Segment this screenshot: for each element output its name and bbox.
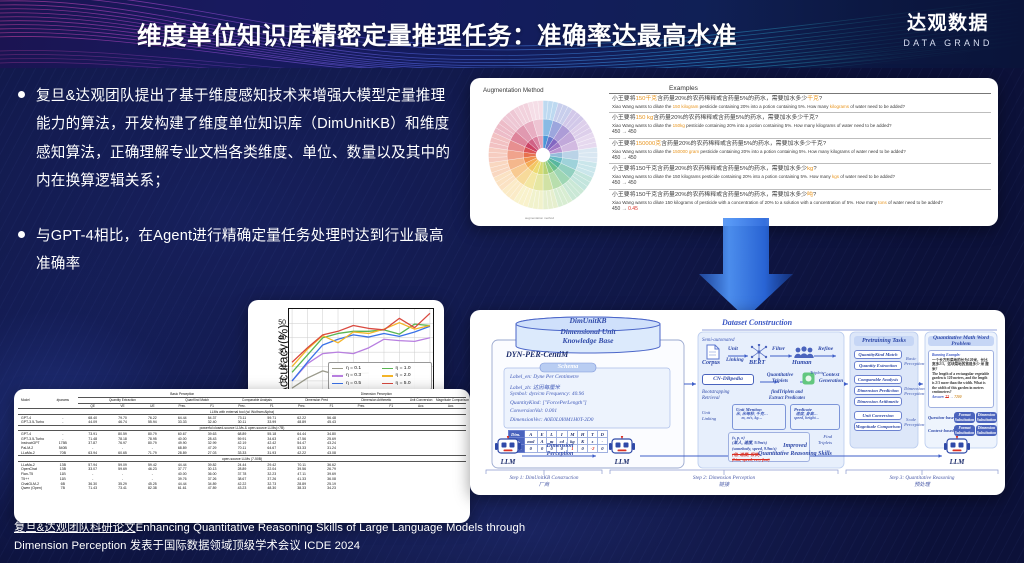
sunburst-caption: augmentation method <box>525 216 554 220</box>
brand-logo: 达观数据 DATA GRAND <box>890 13 1006 48</box>
bullet-item: 复旦&达观团队提出了基于维度感知技术来增强大模型定量推理能力的算法，开发构建了维… <box>18 82 458 196</box>
table-cell: 7B <box>48 486 78 491</box>
chart-legend-item: η = 0.1 <box>332 365 379 372</box>
corpus-label: Corpus <box>702 360 720 366</box>
schema-field: Label_zh: 达因每厘米 <box>510 383 560 391</box>
chart-y-tick: 50 <box>278 320 286 327</box>
triple-neg-en: (him, speed, very fast) <box>732 457 770 463</box>
table-cell: 71.43 <box>78 486 108 491</box>
predicate-items: 速度, 身高…speed, height… <box>794 412 820 421</box>
unit-mention-items: 米, 米每秒, 千克…m, m/s, kg… <box>736 412 768 421</box>
table-row: Qwen (Open)7B71.4373.4182.3861.6147.8943… <box>18 486 466 491</box>
table-cell: 38.33 <box>287 486 317 491</box>
chart-legend-label: η = 1.0 <box>396 365 411 372</box>
pretraining-task-box: Quantity Extraction <box>854 361 902 370</box>
unit-linking-side-label: UnitLinking <box>702 410 716 421</box>
step-label: Step 3: Quantitative Reasoning预处理 <box>846 475 998 489</box>
running-example-box: Running Example: 一个长方形菜地的长为120米，长比宽多2/3，… <box>928 350 994 408</box>
footer-line-1: 复旦&达观团队科研论文Enhancing Quantitative Reason… <box>14 520 654 538</box>
down-arrow-icon <box>693 218 799 322</box>
example-answer: 450 → 450 <box>612 155 988 162</box>
results-table-card: Basic PerceptionDimension PerceptionMode… <box>14 389 470 523</box>
schema-field: DimensionVec: A0E0L0I0M1H0T-2D0 <box>510 417 594 423</box>
bootstrapping-retrieval-label: BootstrappingRetrieval <box>702 390 729 402</box>
chart-legend-item: η = 5.0 <box>382 380 429 387</box>
dim-table-cell: L <box>547 431 557 438</box>
dim-table-cell: M <box>567 431 578 438</box>
people-icon <box>794 346 814 359</box>
pretraining-task-box: Unit Conversion <box>854 411 902 420</box>
example-en: Xiao Wang wants to dilute the 150 kilogr… <box>612 104 988 110</box>
logo-text-en: DATA GRAND <box>890 38 1006 48</box>
qmwp-row-label: Question-based <box>928 415 956 420</box>
dim-table-cell: A <box>524 431 537 438</box>
pretraining-task-box: QuantityKind Match <box>854 350 902 359</box>
example-row: 小王要将150千克含药量20%的农药稀释或含药量5%的药水，需要加水多少kg?X… <box>609 164 991 190</box>
dim-table-cell: T <box>588 431 598 438</box>
dimension-perception-arrow-label: DimensionPerception <box>528 443 592 458</box>
llm-label: LLM <box>609 458 635 466</box>
table-cell: 34.23 <box>317 486 347 491</box>
pretraining-task-box: Comparable Analysis <box>854 375 902 384</box>
table-cell: 47.89 <box>197 486 227 491</box>
dim-table-cell: I <box>556 431 567 438</box>
footer-line-2: Dimension Perception 发表于国际数据领域顶级学术会议 ICD… <box>14 538 654 556</box>
bullet-item: 与GPT-4相比，在Agent进行精确定量任务处理时达到行业最高准确率 <box>18 222 458 279</box>
example-zh: 小王要将150 kg含药量20%的农药稀释或含药量5%的药水，需要加水多少千克? <box>612 115 988 123</box>
refine-label: Refine <box>818 346 833 352</box>
chart-legend-item: η = 0.5 <box>332 380 379 387</box>
chart-legend-label: η = 2.0 <box>396 372 411 379</box>
table-cell <box>376 486 406 491</box>
bert-network-icon <box>750 344 768 360</box>
bullet-list: 复旦&达观团队提出了基于维度感知技术来增强大模型定量推理能力的算法，开发构建了维… <box>18 82 458 305</box>
llm-label: LLM <box>944 458 970 466</box>
chart-legend-item: η = 1.0 <box>382 365 429 372</box>
unit-mention-box: Unit Mention米, 米每秒, 千克…m, m/s, kg… <box>732 404 786 430</box>
bullet-dot-icon <box>18 91 25 98</box>
chart-y-tick: 40 <box>278 334 286 341</box>
dim-table-cell: E <box>537 431 546 438</box>
cn-dbpedia-box: CN-DBpedia <box>702 374 754 385</box>
schema-field: QuantityKind: ["ForcePerLength"] <box>510 400 587 406</box>
chart-legend-label: η = 5.0 <box>396 380 411 387</box>
step-label: Step 2: Dimension Perception链接 <box>610 475 838 489</box>
chart-legend-item: η = 0.3 <box>332 372 379 379</box>
chart-y-tick: 20 <box>278 363 286 370</box>
chart-y-tick: 10 <box>278 377 286 384</box>
example-zh: 小王要将150千克含药量20%的农药稀释或含药量5%的药水，需要加水多少吨? <box>612 192 988 200</box>
qmwp-cell: DimensionSubstitution <box>976 425 997 436</box>
example-zh: 小王要将150000克含药量20%的农药稀释或含药量5%的药水，需要加水多少千克… <box>612 141 988 149</box>
pretraining-group-label: BasicPerception <box>904 356 918 366</box>
pretraining-tasks-title: Pretraining Tasks <box>854 336 914 346</box>
table-cell: 73.41 <box>108 486 138 491</box>
pretraining-group-label: ScalePerception <box>904 417 918 427</box>
sunburst-chart: Augmentation Method augmentation method <box>477 83 605 221</box>
quantitative-triplets-label: QuantitativeTriplets <box>760 372 800 384</box>
filter-label: Filter <box>772 346 785 352</box>
example-en: Xiao Wang wants to dilute 150 kilograms … <box>612 200 988 206</box>
chart-plot-area: 1020304050 10002000300040005000600070008… <box>288 308 434 392</box>
table-cell <box>346 486 376 491</box>
running-example-en: The length of a rectangular vegetable ga… <box>932 372 990 395</box>
qmwp-row-label: Context-based <box>928 428 954 433</box>
table-cell <box>436 486 466 491</box>
bullet-text: 与GPT-4相比，在Agent进行精确定量任务处理时达到行业最高准确率 <box>36 222 458 279</box>
slide-header: 维度单位知识库精密定量推理任务：准确率达最高水准 达观数据 DATA GRAND <box>0 0 1024 68</box>
footer-zh-suffix: 发表于国际数据领域顶级学术会议 ICDE 2024 <box>130 540 360 552</box>
example-answer: 450 → 0.45 <box>612 206 988 213</box>
table-cell: 43.23 <box>227 486 257 491</box>
examples-table: Examples 小王要将150千克含药量20%的农药稀释或含药量5%的药水，需… <box>605 83 991 221</box>
table-cell: 82.38 <box>137 486 167 491</box>
table-cell: 48.30 <box>257 486 287 491</box>
chart-legend-label: η = 0.1 <box>346 365 361 372</box>
page-title: 维度单位知识库精密定量推理任务：准确率达最高水准 <box>0 0 1024 68</box>
document-icon <box>706 344 720 360</box>
llm-label: LLM <box>495 458 521 466</box>
example-zh: 小王要将150千克含药量20%的农药稀释或含药量5%的药水，需要加水多少kg? <box>612 166 988 174</box>
schema-field: ConversionVal: 0.001 <box>510 408 557 414</box>
example-row: 小王要将150千克含药量20%的农药稀释或含药量5%的药水，需要加水多少吨?Xi… <box>609 190 991 215</box>
bullet-dot-icon <box>18 231 25 238</box>
schema-field: Label_en: Dyne Per Centimetre <box>510 374 579 380</box>
qmwp-title: Quantitative Math Word Problem <box>928 336 994 346</box>
example-row: 小王要将150千克含药量20%的农药稀释或含药量5%的药水，需要加水多少千克?X… <box>609 94 991 113</box>
architecture-diagram-card: DimUnitKBDimensional UnitKnowledge BaseD… <box>470 310 1005 495</box>
dataset-construction-title: Dataset Construction <box>722 318 792 327</box>
pretraining-task-box: Dimension Arithmetic <box>854 397 902 406</box>
augmentation-method-label: Augmentation Method <box>483 87 544 94</box>
bullet-text: 复旦&达观团队提出了基于维度感知技术来增强大模型定量推理能力的算法，开发构建了维… <box>36 82 458 196</box>
chart-legend-label: η = 0.5 <box>346 380 361 387</box>
pretraining-group-label: DimensionPerception <box>904 386 918 396</box>
running-example-zh: 一个长方形菜地的长为120米，长比宽多2/3，这块菜地的宽是多少 米 厘米? <box>932 358 990 372</box>
llm-robot-icon <box>495 436 521 458</box>
logo-text-cn: 达观数据 <box>890 13 1006 35</box>
dimunitkb-subtitle: Dimensional UnitKnowledge Base <box>516 327 660 346</box>
unit-linking-label: Unit <box>728 346 738 352</box>
dim-table-row: Dim.AELIMHTD <box>509 431 608 438</box>
examples-figure-card: Augmentation Method augmentation method … <box>470 78 998 226</box>
qmwp-cell: FormatSubstitution <box>954 425 975 436</box>
linking-label: Linking <box>726 357 744 363</box>
footer-citation: 复旦&达观团队科研论文Enhancing Quantitative Reason… <box>14 520 654 555</box>
example-zh: 小王要将150千克含药量20%的农药稀释或含药量5%的药水，需要加水多少千克? <box>612 96 988 104</box>
improved-reasoning-arrow-label: ImprovedQuantitative Reasoning Skills <box>710 443 880 458</box>
llm-robot-icon <box>944 436 970 458</box>
table-cell: GPT-3.5-Turbo <box>18 436 48 441</box>
dim-table-cell: 0 <box>598 445 608 452</box>
triplets-label: Triplets <box>810 370 823 375</box>
running-example-answer: Answer: 72 → 7200 <box>932 395 961 400</box>
schema-field: Symbol: dyn/cm Frequency: 40.96 <box>510 391 584 397</box>
find-triplets-predicates-label: findTriplets andExtract Predicates <box>752 390 822 402</box>
example-answer: 450 → 450 <box>612 180 988 187</box>
examples-header: Examples <box>609 83 991 94</box>
semi-automated-label: Semi-automated <box>702 338 735 343</box>
example-row: 小王要将150 kg含药量20%的农药稀释或含药量5%的药水，需要加水多少千克?… <box>609 113 991 139</box>
pretraining-task-box: Magnitude Comparison <box>854 422 902 431</box>
chart-legend: η = 0.1η = 1.0η = 0.3η = 2.0η = 0.5η = 5… <box>328 362 432 390</box>
example-row: 小王要将150000克含药量20%的农药稀释或含药量5%的药水，需要加水多少千克… <box>609 139 991 165</box>
slide-root: 维度单位知识库精密定量推理任务：准确率达最高水准 达观数据 DATA GRAND… <box>0 0 1024 563</box>
chart-y-tick: 30 <box>278 349 286 356</box>
footer-zh-prefix: 复旦&达观团队科研论文 <box>14 522 136 534</box>
pretraining-task-box: Dimension Prediction <box>854 386 902 395</box>
example-answer: 450 → 450 <box>612 129 988 136</box>
chart-legend-label: η = 0.3 <box>346 372 361 379</box>
dim-table-cell: - <box>598 438 608 445</box>
schema-label: Schema <box>540 363 596 370</box>
qmwp-cell: DimensionSubstitution <box>976 412 997 423</box>
predicate-box: Predicate速度, 身高…speed, height… <box>790 404 840 430</box>
footer-en-title-cont: Dimension Perception <box>14 540 127 552</box>
footer-en-title: Enhancing Quantitative Reasoning Skills … <box>136 522 526 534</box>
qmwp-cell: FormatSubstitution <box>954 412 975 423</box>
dimunitkb-title: DimUnitKB <box>516 316 660 325</box>
table-cell <box>406 486 436 491</box>
llm-robot-icon <box>609 436 635 458</box>
dim-table-cell: D <box>598 431 608 438</box>
table-cell: 61.61 <box>167 486 197 491</box>
results-table: Basic PerceptionDimension PerceptionMode… <box>18 392 466 491</box>
human-label: Human <box>792 359 812 366</box>
bert-label: BERT <box>749 359 765 366</box>
table-cell: Qwen (Open) <box>18 486 48 491</box>
chart-legend-item: η = 2.0 <box>382 372 429 379</box>
schema-card-title: DYN-PER-CentiM <box>506 350 568 359</box>
step-label: Step 1: DimUnitKB Construction厂商 <box>486 475 602 489</box>
dim-table-cell: H <box>578 431 588 438</box>
sunburst-svg <box>485 97 601 213</box>
